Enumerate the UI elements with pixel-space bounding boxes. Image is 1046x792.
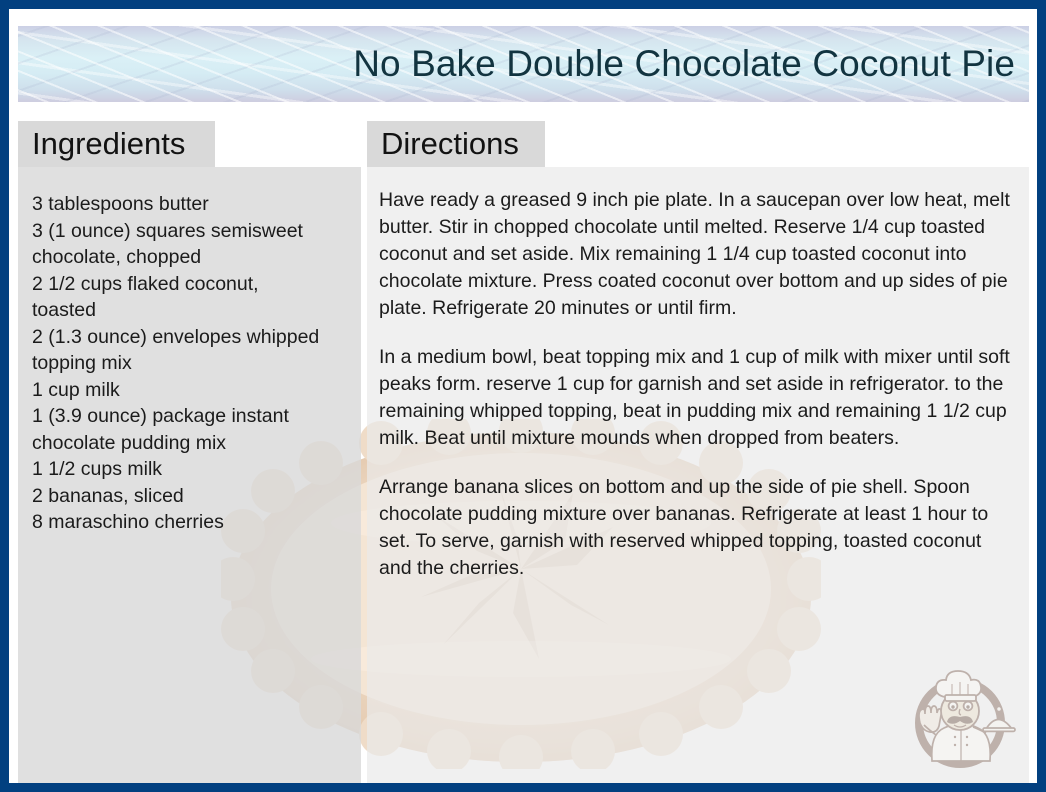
list-item: 1 (3.9 ounce) package instant — [32, 403, 345, 430]
list-item: chocolate pudding mix — [32, 430, 345, 457]
list-item: chocolate, chopped — [32, 244, 345, 271]
list-item: 2 (1.3 ounce) envelopes whipped — [32, 324, 345, 351]
directions-panel: Have ready a greased 9 inch pie plate. I… — [367, 167, 1029, 783]
directions-text: Have ready a greased 9 inch pie plate. I… — [379, 187, 1015, 582]
list-item: 3 tablespoons butter — [32, 191, 345, 218]
list-item: topping mix — [32, 350, 345, 377]
list-item: 2 bananas, sliced — [32, 483, 345, 510]
directions-paragraph: Have ready a greased 9 inch pie plate. I… — [379, 187, 1015, 322]
directions-paragraph: Arrange banana slices on bottom and up t… — [379, 474, 1015, 582]
card-inner-area: No Bake Double Chocolate Coconut Pie — [9, 9, 1037, 783]
list-item: 1 cup milk — [32, 377, 345, 404]
directions-paragraph: In a medium bowl, beat topping mix and 1… — [379, 344, 1015, 452]
list-item: toasted — [32, 297, 345, 324]
list-item: 3 (1 ounce) squares semisweet — [32, 218, 345, 245]
directions-heading: Directions — [381, 126, 519, 162]
title-banner: No Bake Double Chocolate Coconut Pie — [18, 26, 1029, 102]
page-title: No Bake Double Chocolate Coconut Pie — [353, 43, 1015, 85]
list-item: 1 1/2 cups milk — [32, 456, 345, 483]
list-item: 8 maraschino cherries — [32, 509, 345, 536]
ingredients-panel: 3 tablespoons butter 3 (1 ounce) squares… — [18, 167, 361, 783]
list-item: 2 1/2 cups flaked coconut, — [32, 271, 345, 298]
recipe-card: No Bake Double Chocolate Coconut Pie — [0, 0, 1046, 792]
ingredients-column: Ingredients 3 tablespoons butter 3 (1 ou… — [18, 121, 361, 783]
directions-column: Directions Have ready a greased 9 inch p… — [367, 121, 1029, 783]
ingredients-header-tab: Ingredients — [18, 121, 215, 167]
ingredients-list: 3 tablespoons butter 3 (1 ounce) squares… — [32, 191, 345, 536]
ingredients-heading: Ingredients — [32, 126, 185, 162]
directions-header-tab: Directions — [367, 121, 545, 167]
